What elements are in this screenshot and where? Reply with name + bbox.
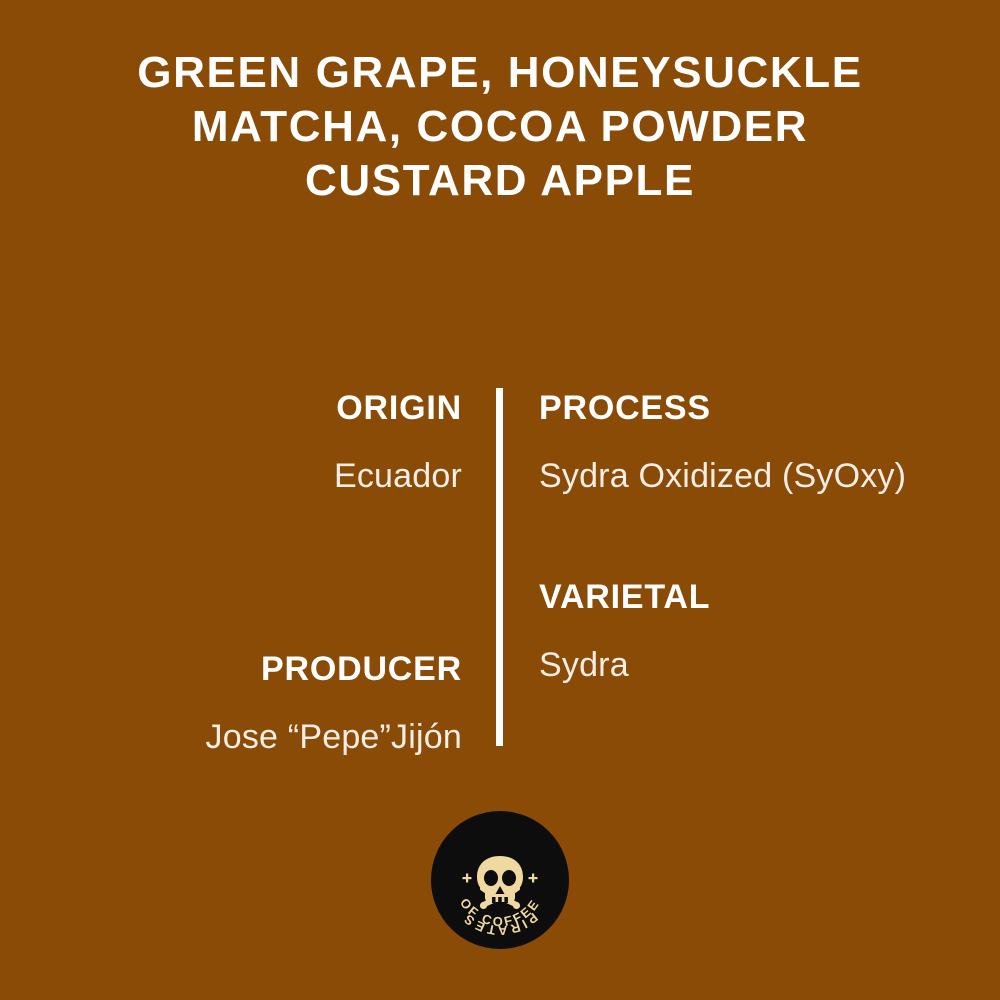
- spacer: [539, 428, 979, 454]
- spacer: [539, 499, 979, 577]
- details-right-column: PROCESS Sydra Oxidized (SyOxy) VARIETAL …: [539, 388, 979, 688]
- process-label: PROCESS: [539, 388, 979, 428]
- spacer: [539, 617, 979, 643]
- page-title-line-2: MATCHA, COCOA POWDER: [0, 100, 1000, 154]
- producer-label: PRODUCER: [0, 649, 462, 689]
- spacer: [0, 428, 462, 454]
- spacer: [0, 499, 462, 649]
- varietal-value: Sydra: [539, 643, 979, 688]
- page-title-line-1: GREEN GRAPE, HONEYSUCKLE: [0, 46, 1000, 100]
- poster-canvas: GREEN GRAPE, HONEYSUCKLE MATCHA, COCOA P…: [0, 0, 1000, 1000]
- pirates-of-coffee-logo-svg: PIRATES OF COFFEE: [430, 810, 570, 950]
- details-left-column: ORIGIN Ecuador PRODUCER Jose “Pepe”Jijón: [0, 388, 462, 760]
- varietal-label: VARIETAL: [539, 577, 979, 617]
- vertical-divider: [496, 388, 503, 746]
- brand-logo: PIRATES OF COFFEE: [430, 810, 570, 950]
- process-value: Sydra Oxidized (SyOxy): [539, 454, 979, 499]
- spacer: [0, 689, 462, 715]
- producer-value: Jose “Pepe”Jijón: [0, 715, 462, 760]
- page-title-line-3: CUSTARD APPLE: [0, 154, 1000, 208]
- page-title: GREEN GRAPE, HONEYSUCKLE MATCHA, COCOA P…: [0, 46, 1000, 208]
- origin-label: ORIGIN: [0, 388, 462, 428]
- coffee-details: ORIGIN Ecuador PRODUCER Jose “Pepe”Jijón…: [0, 388, 1000, 748]
- origin-value: Ecuador: [0, 454, 462, 499]
